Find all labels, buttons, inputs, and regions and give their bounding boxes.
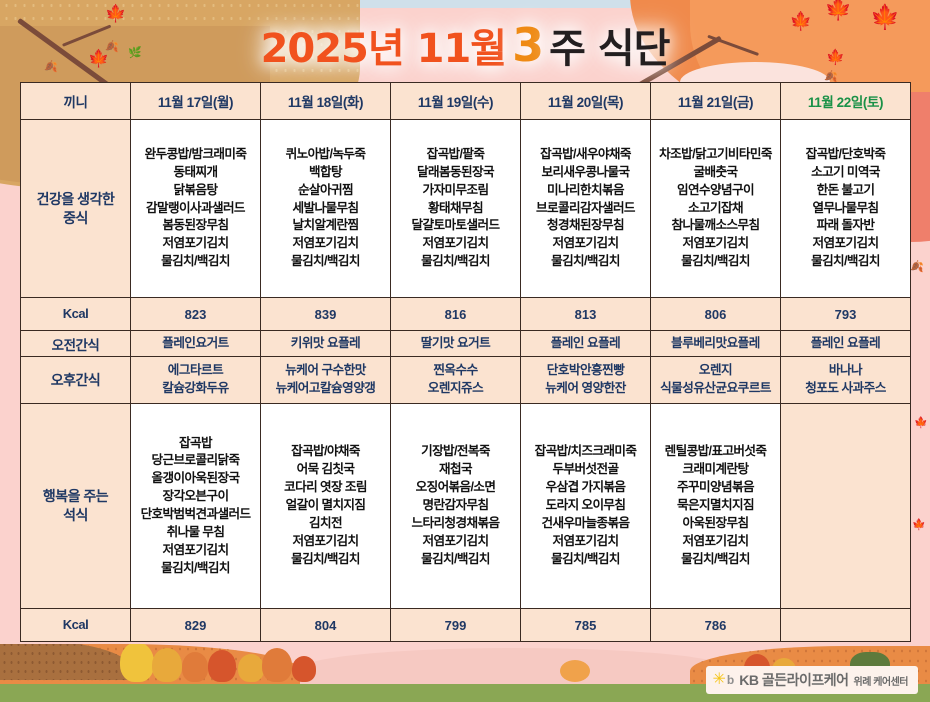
footer-logo: ✳ b KB 골든라이프케어 위례 케어센터: [706, 666, 918, 694]
lunch-kcal-sat: 793: [781, 298, 911, 331]
lunch-cell-sat: 잡곡밥/단호박죽소고기 미역국한돈 불고기열무나물무침파래 돌자반저염포기김치물…: [781, 120, 911, 298]
am-snack-label: 오전간식: [21, 331, 131, 357]
dinner-kcal-thu: 785: [521, 609, 651, 642]
kb-b-mark: b: [727, 673, 734, 687]
maple-leaf-icon-6: 🍁: [826, 50, 845, 65]
meal-plan-poster: 🍁 🍁 🍂 🍂 🌿 🍁 🍁 🍁 🍁 🍂 🍂 🍁 🍁: [0, 0, 930, 702]
lunch-cell-mon: 완두콩밥/밤크래미죽동태찌개닭볶음탕감말랭이사과샐러드봄동된장무침저염포기김치물…: [131, 120, 261, 298]
am-snack-thu: 플레인 요플레: [521, 331, 651, 357]
am-snack-fri: 블루베리맛요플레: [651, 331, 781, 357]
small-leaf-icon: 🍂: [105, 42, 119, 53]
tree-icon-5: [238, 654, 264, 682]
dinner-kcal-label: Kcal: [21, 609, 131, 642]
lunch-row: 건강을 생각한 중식 완두콩밥/밤크래미죽동태찌개닭볶음탕감말랭이사과샐러드봄동…: [21, 120, 911, 298]
dinner-cell-mon: 잡곡밥당근브로콜리닭죽올갱이아욱된장국장각오븐구이단호박범벅견과샐러드취나물 무…: [131, 404, 261, 609]
lunch-kcal-label: Kcal: [21, 298, 131, 331]
dinner-cell-wed: 기장밥/전복죽재첩국오징어볶음/소면명란감자무침느타리청경채볶음저염포기김치물김…: [391, 404, 521, 609]
tree-icon-2: [152, 648, 182, 682]
am-snack-sat: 플레인 요플레: [781, 331, 911, 357]
pm-snack-fri: 오렌지식물성유산균요쿠르트: [651, 357, 781, 404]
lunch-cell-wed: 잡곡밥/팥죽달래봄동된장국가자미무조림황태채무침달걀토마토샐러드저염포기김치물김…: [391, 120, 521, 298]
lunch-kcal-row: Kcal 823 839 816 813 806 793: [21, 298, 911, 331]
dinner-kcal-fri: 786: [651, 609, 781, 642]
maple-leaf-icon-5: 🍁: [790, 12, 812, 30]
lunch-kcal-mon: 823: [131, 298, 261, 331]
dinner-row-label: 행복을 주는 석식: [21, 404, 131, 609]
header-day-sat: 11월 22일(토): [781, 83, 911, 120]
tree-icon-8: [560, 660, 590, 682]
header-day-tue: 11월 18일(화): [261, 83, 391, 120]
small-leaf-icon-6: 🍁: [912, 520, 926, 531]
tree-icon-4: [208, 650, 236, 682]
lunch-kcal-fri: 806: [651, 298, 781, 331]
header-day-wed: 11월 19일(수): [391, 83, 521, 120]
header-day-fri: 11월 21일(금): [651, 83, 781, 120]
lunch-cell-thu: 잡곡밥/새우야채죽보리새우콩나물국미나리한치볶음브로콜리감자샐러드청경채된장무침…: [521, 120, 651, 298]
logo-brand-name: KB 골든라이프케어: [739, 670, 848, 690]
weekly-menu-table: 끼니 11월 17일(월) 11월 18일(화) 11월 19일(수) 11월 …: [20, 82, 911, 642]
small-leaf-icon-4: 🍂: [910, 262, 924, 273]
lunch-cell-tue: 퀴노아밥/녹두죽백합탕순살아귀찜세발나물무침날치알계란찜저염포기김치물김치/백김…: [261, 120, 391, 298]
tree-icon-3: [182, 652, 208, 682]
maple-leaf-icon: 🍁: [105, 5, 126, 22]
header-meal-type: 끼니: [21, 83, 131, 120]
table-header-row: 끼니 11월 17일(월) 11월 18일(화) 11월 19일(수) 11월 …: [21, 83, 911, 120]
logo-branch-name: 위례 케어센터: [854, 673, 908, 688]
dinner-label-line1: 행복을 주는: [22, 487, 129, 506]
maple-leaf-icon-4: 🍁: [870, 6, 900, 30]
lunch-label-line1: 건강을 생각한: [22, 190, 129, 209]
maple-leaf-icon-3: 🍁: [825, 0, 852, 20]
header-day-mon: 11월 17일(월): [131, 83, 261, 120]
dinner-kcal-sat: [781, 609, 911, 642]
pm-snack-label: 오후간식: [21, 357, 131, 404]
dinner-row: 행복을 주는 석식 잡곡밥당근브로콜리닭죽올갱이아욱된장국장각오븐구이단호박범벅…: [21, 404, 911, 609]
dinner-cell-tue: 잡곡밥/야채죽어묵 김칫국코다리 엿장 조림얼갈이 멸치지짐김치전저염포기김치물…: [261, 404, 391, 609]
am-snack-mon: 플레인요거트: [131, 331, 261, 357]
dinner-cell-sat: [781, 404, 911, 609]
tree-icon-7: [292, 656, 316, 682]
dinner-kcal-mon: 829: [131, 609, 261, 642]
dinner-label-line2: 석식: [22, 506, 129, 525]
am-snack-tue: 키위맛 요플레: [261, 331, 391, 357]
lunch-label-line2: 중식: [22, 209, 129, 228]
dinner-kcal-row: Kcal 829 804 799 785 786: [21, 609, 911, 642]
dinner-kcal-tue: 804: [261, 609, 391, 642]
pm-snack-mon: 에그타르트칼슘강화두유: [131, 357, 261, 404]
header-day-thu: 11월 20일(목): [521, 83, 651, 120]
dinner-cell-fri: 렌틸콩밥/표고버섯죽크래미계란탕주꾸미양념볶음묵은지멸치지짐아욱된장무침저염포기…: [651, 404, 781, 609]
pm-snack-row: 오후간식 에그타르트칼슘강화두유 뉴케어 구수한맛뉴케어고칼슘영양갱 찐옥수수오…: [21, 357, 911, 404]
lunch-kcal-wed: 816: [391, 298, 521, 331]
small-leaf-icon-5: 🍁: [914, 418, 928, 429]
tree-icon-1: [120, 644, 154, 682]
kb-star-icon: ✳: [712, 672, 725, 688]
small-leaf-icon-2: 🍂: [44, 62, 58, 73]
am-snack-wed: 딸기맛 요거트: [391, 331, 521, 357]
dinner-kcal-wed: 799: [391, 609, 521, 642]
lunch-kcal-tue: 839: [261, 298, 391, 331]
tree-icon-6: [262, 648, 292, 682]
dinner-cell-thu: 잡곡밥/치즈크래미죽두부버섯전골우삼겹 가지볶음도라지 오이무침건새우마늘종볶음…: [521, 404, 651, 609]
pm-snack-thu: 단호박안흥찐빵뉴케어 영양한잔: [521, 357, 651, 404]
pm-snack-tue: 뉴케어 구수한맛뉴케어고칼슘영양갱: [261, 357, 391, 404]
pm-snack-wed: 찐옥수수오렌지쥬스: [391, 357, 521, 404]
green-leaf-icon: 🌿: [128, 48, 142, 59]
am-snack-row: 오전간식 플레인요거트 키위맛 요플레 딸기맛 요거트 플레인 요플레 블루베리…: [21, 331, 911, 357]
lunch-kcal-thu: 813: [521, 298, 651, 331]
lunch-row-label: 건강을 생각한 중식: [21, 120, 131, 298]
pm-snack-sat: 바나나청포도 사과주스: [781, 357, 911, 404]
lunch-cell-fri: 차조밥/닭고기비타민죽굴배춧국임연수양념구이소고기잡채참나물깨소스무침저염포기김…: [651, 120, 781, 298]
menu-table-wrapper: 끼니 11월 17일(월) 11월 18일(화) 11월 19일(수) 11월 …: [20, 82, 910, 642]
